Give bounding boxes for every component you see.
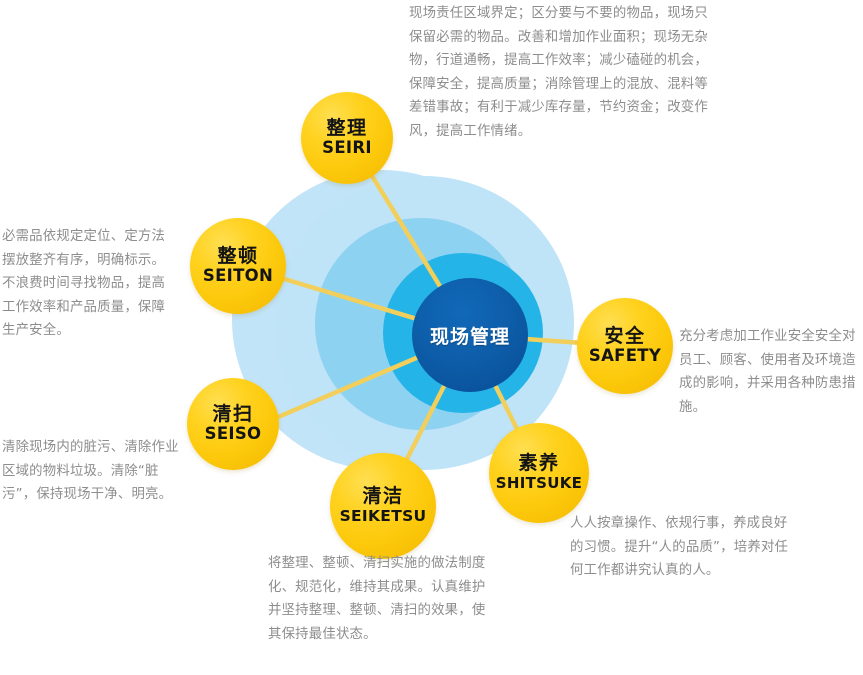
description-seiketsu: 将整理、整顿、清扫实施的做法制度化、规范化，维持其成果。认真维护并坚持整理、整顿…: [268, 552, 486, 646]
node-seiso[interactable]: 清扫 SEISO: [187, 378, 279, 470]
description-safety: 充分考虑加工作业安全安全对员工、顾客、使用者及环境造成的影响，并采用各种防患措施…: [679, 325, 863, 419]
node-seiketsu[interactable]: 清洁 SEIKETSU: [330, 453, 436, 559]
node-shitsuke-label-cn: 素养: [518, 454, 559, 473]
description-shitsuke: 人人按章操作、依规行事，养成良好的习惯。提升“人的品质”，培养对任何工作都讲究认…: [570, 512, 792, 583]
node-seiton-label-en: SEITON: [203, 267, 273, 285]
node-seiri-label-cn: 整理: [326, 119, 367, 138]
diagram-canvas: 现场管理 整理 SEIRI 整顿 SEITON 清扫 SEISO 清洁 SEIK…: [0, 0, 863, 675]
description-seiri: 现场责任区域界定；区分要与不要的物品，现场只保留必需的物品。改善和增加作业面积；…: [409, 2, 721, 143]
node-seiri-label-en: SEIRI: [322, 139, 372, 157]
description-seiton: 必需品依规定定位、定方法摆放整齐有序，明确标示。不浪费时间寻找物品，提高工作效率…: [2, 225, 174, 343]
center-label: 现场管理: [412, 278, 528, 392]
node-safety-label-cn: 安全: [604, 327, 645, 346]
node-seiso-label-cn: 清扫: [212, 405, 253, 424]
node-seiketsu-label-en: SEIKETSU: [340, 508, 427, 525]
description-seiso: 清除现场内的脏污、清除作业区域的物料垃圾。清除“脏污”，保持现场干净、明亮。: [2, 436, 180, 507]
node-seiri[interactable]: 整理 SEIRI: [301, 92, 393, 184]
node-safety-label-en: SAFETY: [589, 347, 661, 365]
node-seiton-label-cn: 整顿: [217, 247, 258, 266]
node-safety[interactable]: 安全 SAFETY: [577, 298, 673, 394]
node-shitsuke-label-en: SHITSUKE: [496, 475, 582, 492]
node-seiton[interactable]: 整顿 SEITON: [190, 218, 286, 314]
node-seiso-label-en: SEISO: [205, 425, 262, 443]
node-seiketsu-label-cn: 清洁: [362, 487, 403, 506]
node-shitsuke[interactable]: 素养 SHITSUKE: [489, 423, 589, 523]
